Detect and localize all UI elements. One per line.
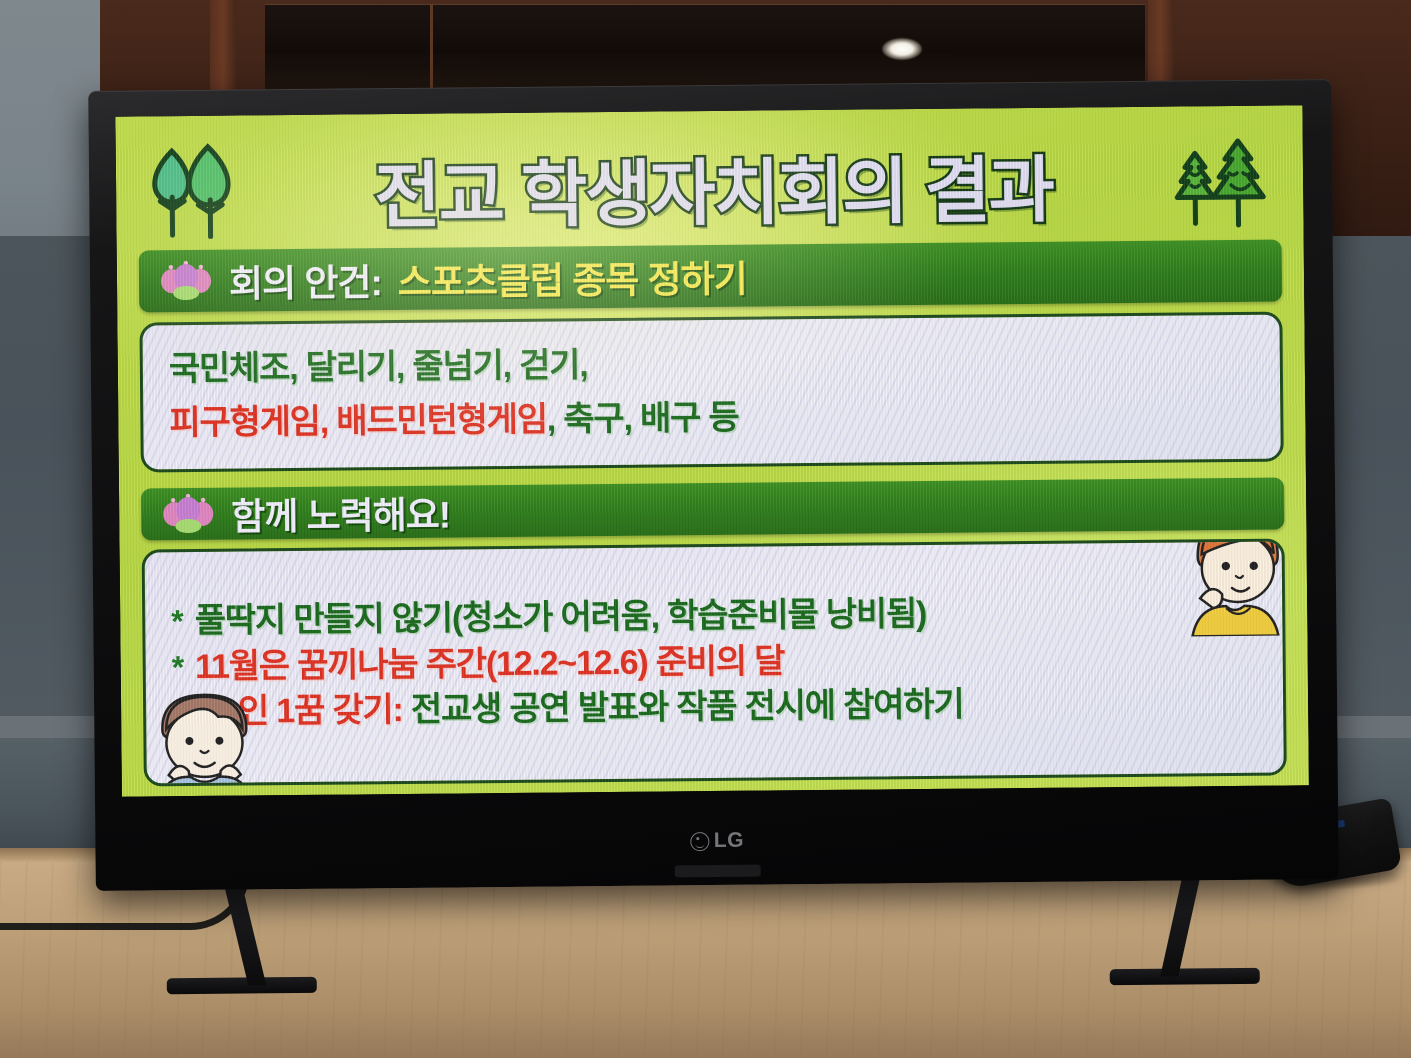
- television: LG 전교 학생자치회의 결과: [88, 79, 1339, 891]
- note-text: -1인 1꿈 갖기: 전교생 공연 발표와 작품 전시에 참여하기: [210, 684, 964, 735]
- bullet-star-icon: *: [172, 649, 185, 686]
- note-text: 11월은 꿈끼나눔 주간(12.2~12.6) 준비의 달: [195, 640, 785, 689]
- effort-bar: 함께 노력해요!: [141, 478, 1284, 541]
- flower-icon: [159, 259, 213, 304]
- tv-screen: 전교 학생자치회의 결과: [115, 105, 1308, 796]
- note-text-green: 전교생 공연 발표와 작품 전시에 참여하기: [402, 686, 963, 729]
- effort-label: 함께 노력해요!: [231, 485, 450, 541]
- sports-line-1: 국민체조, 달리기, 줄넘기, 걷기,: [169, 338, 1254, 392]
- girl-character: [1183, 539, 1287, 637]
- sports-line-2-green: , 축구, 배구 등: [547, 399, 739, 439]
- notes-panel: * 풀딱지 만들지 않기(청소가 어려움, 학습준비물 낭비됨) * 11월은 …: [142, 539, 1287, 787]
- sports-line-2-red: 피구형게임, 배드민턴형게임: [169, 401, 547, 443]
- lg-circle-icon: [690, 832, 709, 851]
- tree-pair-icon: [142, 142, 263, 239]
- sports-options-panel: 국민체조, 달리기, 줄넘기, 걷기, 피구형게임, 배드민턴형게임, 축구, …: [139, 312, 1283, 473]
- note-item: * 11월은 꿈끼나눔 주간(12.2~12.6) 준비의 달: [172, 636, 1257, 690]
- flower-icon: [161, 492, 215, 537]
- note-item: * 풀딱지 만들지 않기(청소가 어려움, 학습준비물 낭비됨): [171, 590, 1256, 644]
- tv-chin: [674, 865, 760, 878]
- tv-foot-right: [1110, 968, 1260, 985]
- agenda-bar: 회의 안건: 스포츠클럽 종목 정하기: [139, 240, 1283, 313]
- agenda-value: 스포츠클럽 종목 정하기: [398, 249, 747, 306]
- boy-character: [142, 682, 267, 786]
- agenda-label: 회의 안건:: [229, 252, 382, 307]
- note-text: 풀딱지 만들지 않기(청소가 어려움, 학습준비물 낭비됨): [195, 593, 927, 644]
- tree-pair-smiling-icon: [1165, 133, 1278, 230]
- slide-title: 전교 학생자치회의 결과: [272, 129, 1156, 242]
- lg-wordmark: LG: [714, 829, 744, 853]
- presentation-slide: 전교 학생자치회의 결과: [115, 105, 1308, 796]
- sports-line-2: 피구형게임, 배드민턴형게임, 축구, 배구 등: [169, 392, 1254, 446]
- room-scene: LG 전교 학생자치회의 결과: [0, 0, 1411, 1058]
- slide-title-row: 전교 학생자치회의 결과: [138, 122, 1282, 251]
- lg-brand-logo: LG: [690, 829, 744, 854]
- ceiling-light-reflection: [882, 38, 922, 60]
- tv-foot-left: [167, 977, 317, 994]
- note-item: -1인 1꿈 갖기: 전교생 공연 발표와 작품 전시에 참여하기: [172, 681, 1257, 735]
- bullet-star-icon: *: [171, 603, 184, 640]
